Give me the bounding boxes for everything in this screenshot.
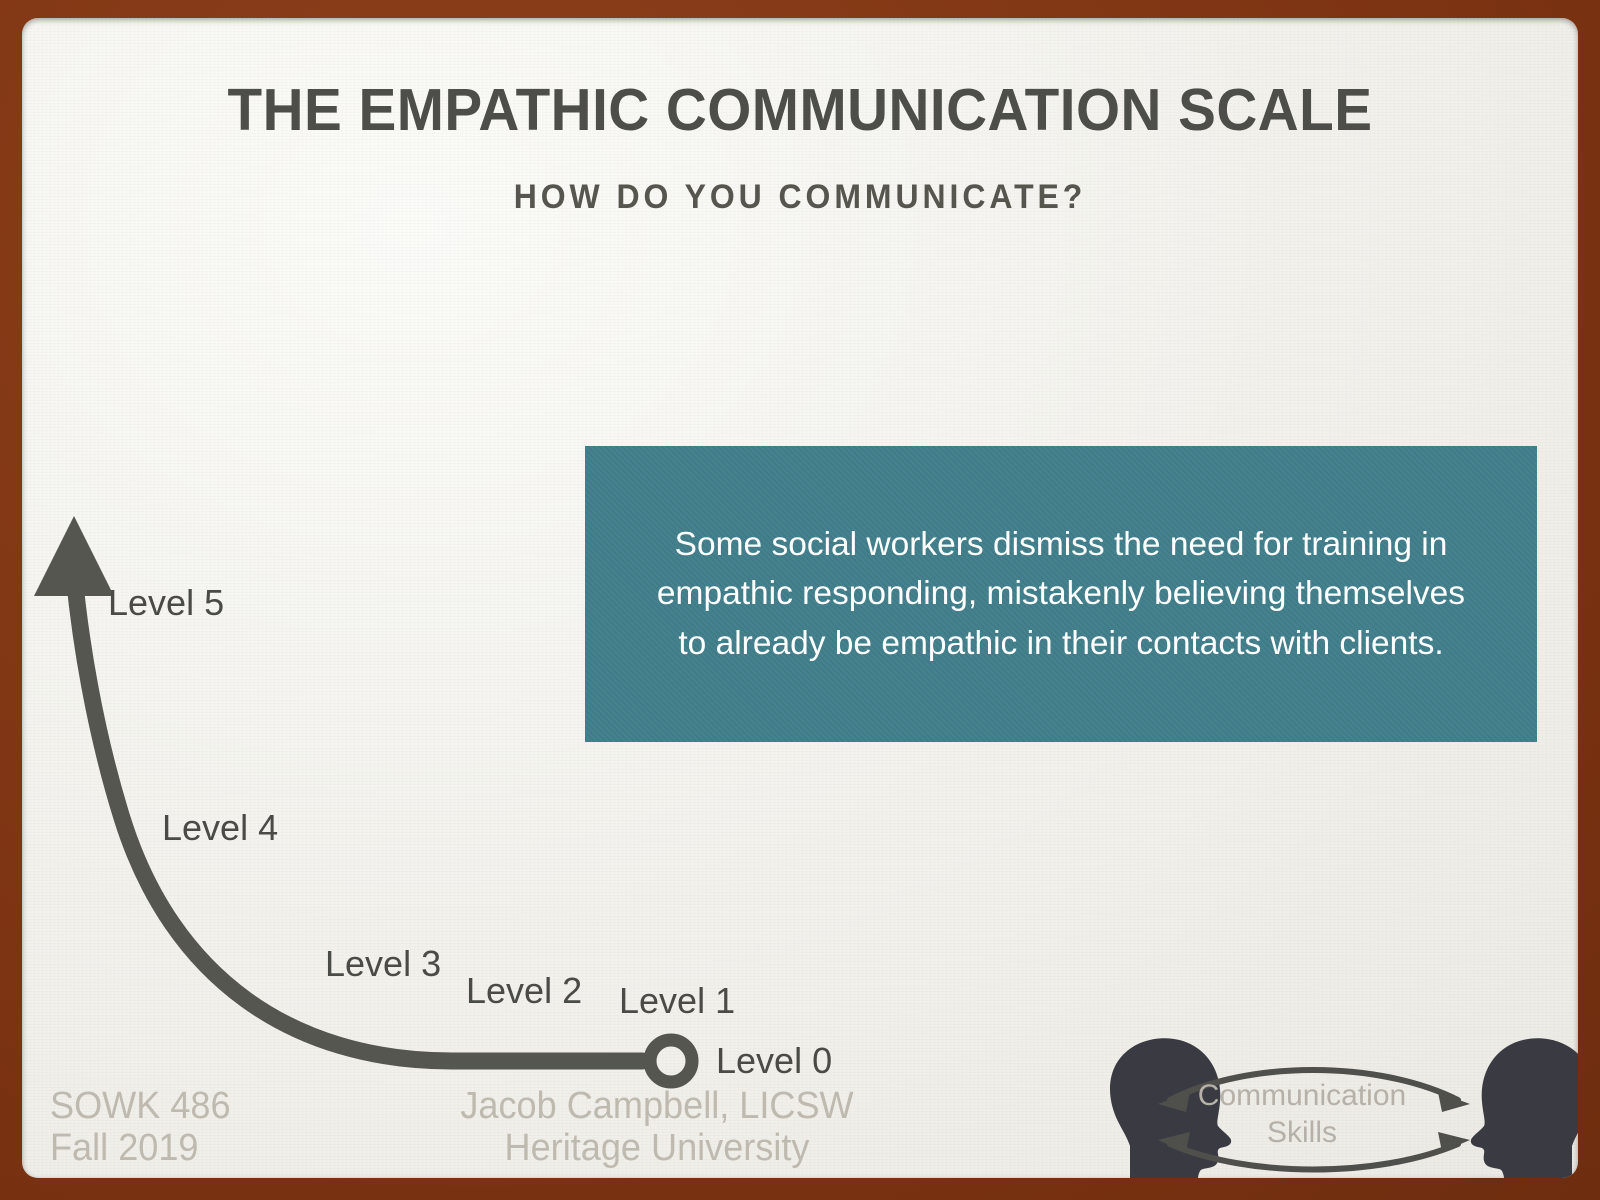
footer-presenter-block: Jacob Campbell, LICSW Heritage Universit… [434, 1085, 881, 1170]
footer-institution: Heritage University [434, 1127, 881, 1170]
quote-box: Some social workers dismiss the need for… [585, 446, 1537, 742]
communication-skills-line-1: Communication [1177, 1078, 1427, 1115]
communication-skills-label: Communication Skills [1177, 1078, 1427, 1151]
scale-label-level-0: Level 0 [716, 1040, 832, 1082]
page-title: THE EMPATHIC COMMUNICATION SCALE [53, 80, 1547, 140]
footer-term: Fall 2019 [50, 1127, 231, 1170]
slide-card: THE EMPATHIC COMMUNICATION SCALE HOW DO … [22, 18, 1578, 1178]
quote-text: Some social workers dismiss the need for… [646, 520, 1476, 669]
head-silhouette-right-icon [1471, 1038, 1578, 1178]
communication-skills-line-2: Skills [1177, 1115, 1427, 1152]
scale-label-level-5: Level 5 [108, 582, 224, 624]
scale-label-level-3: Level 3 [325, 943, 441, 985]
footer-course-block: SOWK 486 Fall 2019 [50, 1085, 231, 1170]
footer-presenter-name: Jacob Campbell, LICSW [434, 1085, 881, 1128]
scale-arrowhead-icon [34, 516, 114, 596]
page-subtitle: HOW DO YOU COMMUNICATE? [69, 178, 1532, 217]
slide-frame: THE EMPATHIC COMMUNICATION SCALE HOW DO … [0, 0, 1600, 1200]
footer-course-code: SOWK 486 [50, 1085, 231, 1128]
scale-origin-circle-icon [650, 1040, 692, 1082]
scale-label-level-1: Level 1 [619, 980, 735, 1022]
scale-label-level-4: Level 4 [162, 807, 278, 849]
scale-label-level-2: Level 2 [466, 970, 582, 1012]
